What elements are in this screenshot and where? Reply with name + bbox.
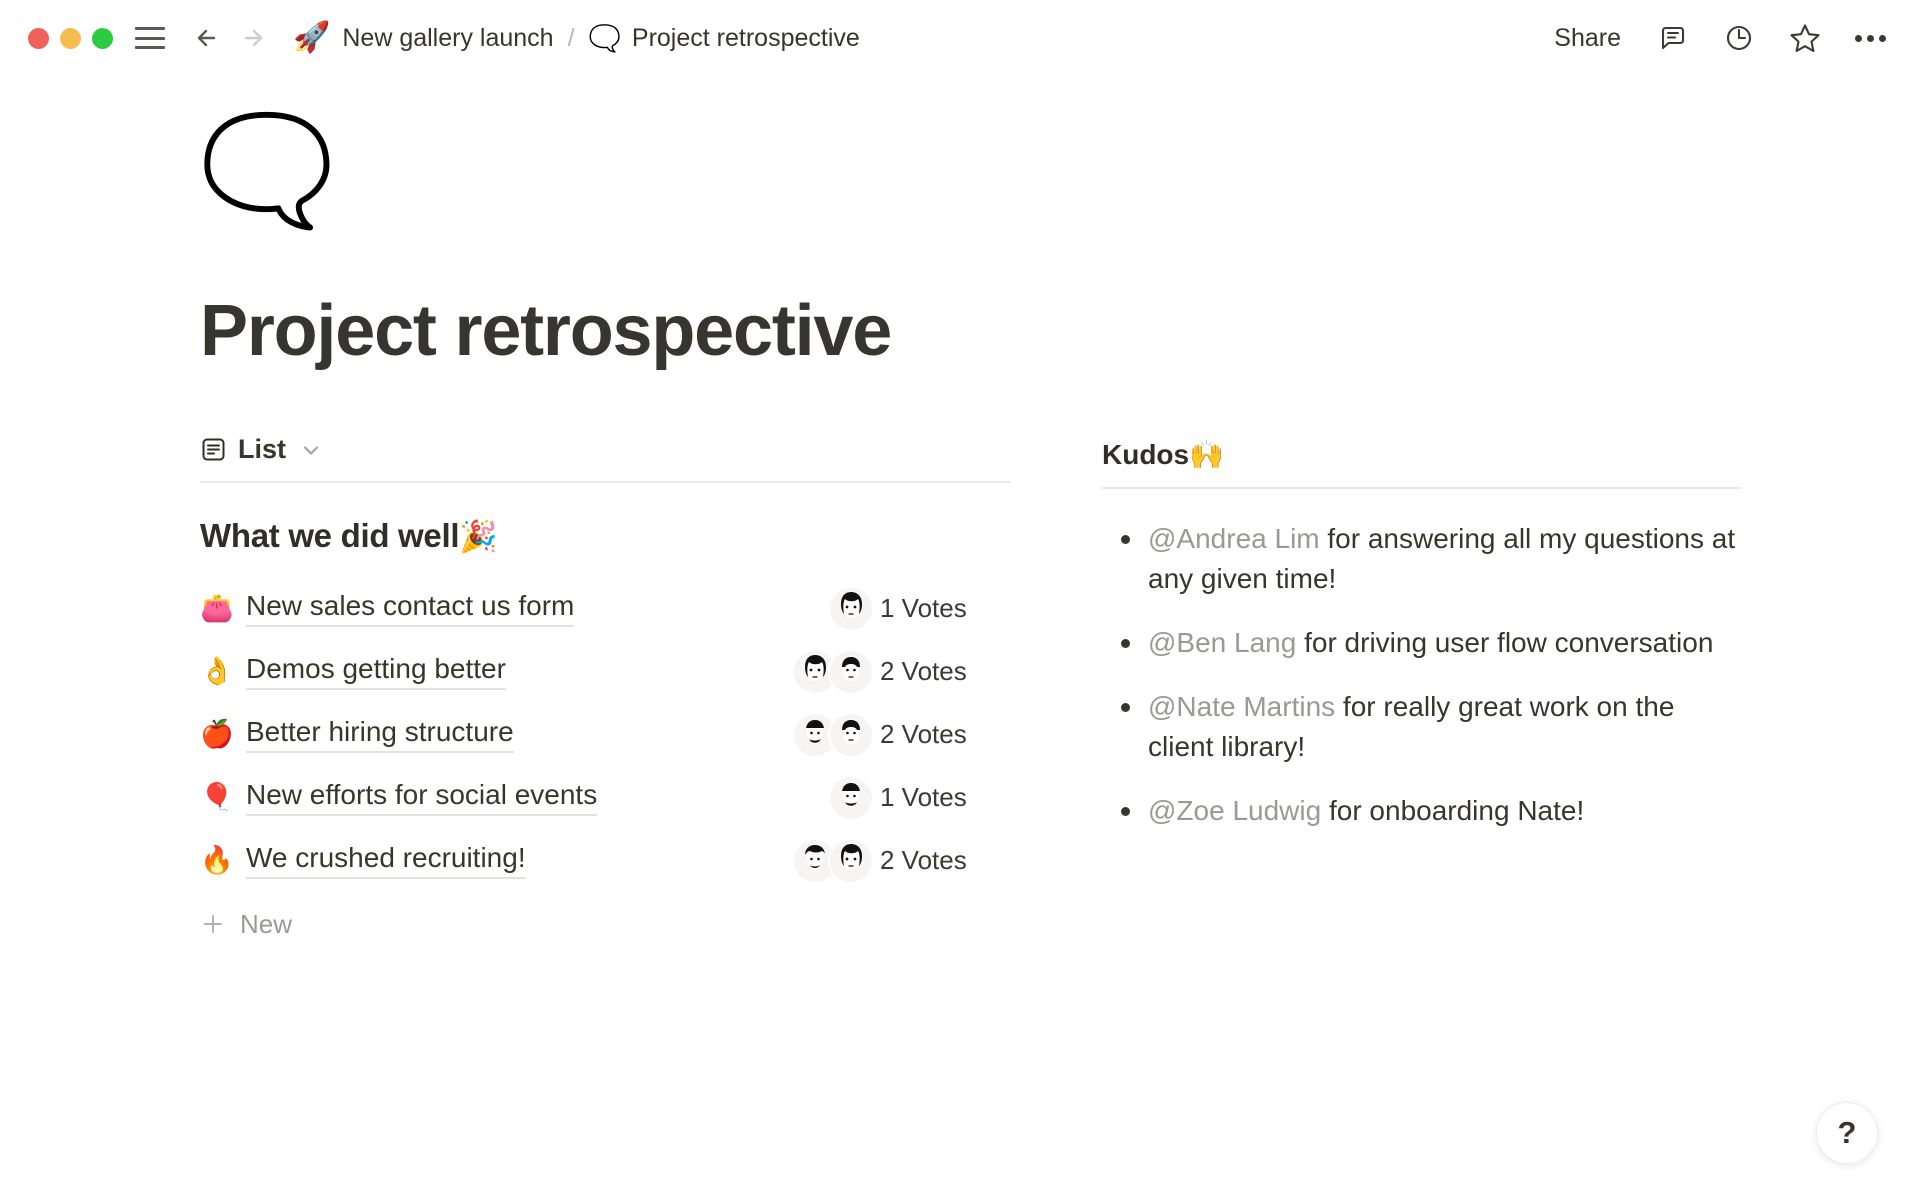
vote-count: 2 Votes: [880, 719, 967, 750]
list-item-title-wrap: New sales contact us form: [246, 577, 750, 640]
section-heading[interactable]: What we did well🎉: [200, 517, 1010, 555]
kudos-heading: Kudos🙌: [1102, 438, 1742, 487]
list-item[interactable]: @Andrea Lim for answering all my questio…: [1102, 519, 1742, 599]
window-controls: [28, 28, 113, 49]
avatar: [830, 588, 872, 630]
voter-avatars[interactable]: [750, 651, 880, 693]
bullet-icon: [1102, 791, 1148, 816]
mention-chip[interactable]: @Zoe Ludwig: [1148, 795, 1321, 826]
avatar: [830, 651, 872, 693]
add-new-item-label: New: [240, 909, 292, 940]
list-item-votes-group: 1 Votes: [750, 777, 1010, 819]
add-new-item-button[interactable]: New: [200, 896, 1010, 952]
list-item[interactable]: 🍎 Better hiring structure: [200, 703, 1010, 766]
list-item-title-wrap: We crushed recruiting!: [246, 829, 750, 892]
voter-avatars[interactable]: [750, 714, 880, 756]
mention-chip[interactable]: @Nate Martins: [1148, 691, 1335, 722]
avatar: [830, 840, 872, 882]
list-item-title[interactable]: New sales contact us form: [246, 590, 574, 627]
list-item[interactable]: 🎈 New efforts for social events 1 Votes: [200, 766, 1010, 829]
mention-chip[interactable]: @Andrea Lim: [1148, 523, 1320, 554]
list-item-votes-group: 1 Votes: [750, 588, 1010, 630]
bullet-icon: [1102, 623, 1148, 648]
share-button[interactable]: Share: [1548, 20, 1627, 57]
list-item-title[interactable]: We crushed recruiting!: [246, 842, 526, 879]
help-button[interactable]: ?: [1816, 1102, 1878, 1164]
list-item[interactable]: 👌 Demos getting better: [200, 640, 1010, 703]
list-item[interactable]: @Ben Lang for driving user flow conversa…: [1102, 623, 1742, 663]
plus-icon: [200, 911, 226, 937]
kudos-text: @Ben Lang for driving user flow conversa…: [1148, 623, 1742, 663]
arrow-left-icon[interactable]: [191, 21, 225, 55]
kudos-body: for onboarding Nate!: [1321, 795, 1584, 826]
mention-chip[interactable]: @Ben Lang: [1148, 627, 1296, 658]
comment-icon[interactable]: [1653, 18, 1693, 58]
list-item-title[interactable]: Demos getting better: [246, 653, 506, 690]
list-item-votes-group: 2 Votes: [750, 840, 1010, 882]
breadcrumb-separator: /: [568, 24, 575, 53]
kudos-body: for driving user flow conversation: [1296, 627, 1713, 658]
list-item-title-wrap: Better hiring structure: [246, 703, 750, 766]
ok-hand-icon: 👌: [200, 658, 246, 685]
vote-count: 2 Votes: [880, 845, 967, 876]
list-item-votes-group: 2 Votes: [750, 651, 1010, 693]
page-icon[interactable]: 🗨️: [200, 116, 1860, 224]
apple-icon: 🍎: [200, 721, 246, 748]
kudos-text: @Nate Martins for really great work on t…: [1148, 687, 1742, 767]
vote-count: 2 Votes: [880, 656, 967, 687]
chevron-down-icon[interactable]: [299, 438, 323, 462]
right-column: Kudos🙌 @Andrea Lim for answering all my …: [1102, 434, 1742, 855]
page-title[interactable]: Project retrospective: [200, 290, 1860, 372]
kudos-text: @Andrea Lim for answering all my questio…: [1148, 519, 1742, 599]
more-options-icon[interactable]: [1851, 27, 1890, 50]
section-heading-text: What we did well: [200, 517, 459, 554]
page-content: 🗨️ Project retrospective List: [0, 116, 1920, 952]
avatar: [830, 777, 872, 819]
clock-history-icon[interactable]: [1719, 18, 1759, 58]
view-selector[interactable]: List: [200, 434, 1010, 481]
content-columns: List What we did well🎉 👛 New sales conta…: [200, 434, 1860, 952]
purse-icon: 👛: [200, 595, 246, 622]
voter-avatars[interactable]: [750, 588, 880, 630]
arrow-right-icon[interactable]: [235, 21, 269, 55]
list-item[interactable]: @Zoe Ludwig for onboarding Nate!: [1102, 791, 1742, 831]
list-item[interactable]: @Nate Martins for really great work on t…: [1102, 687, 1742, 767]
list-item[interactable]: 🔥 We crushed recruiting!: [200, 829, 1010, 892]
breadcrumb-item-parent[interactable]: New gallery launch: [342, 24, 553, 53]
raising-hands-icon: 🙌: [1189, 439, 1224, 470]
minimize-window-button[interactable]: [60, 28, 81, 49]
list-item-title-wrap: Demos getting better: [246, 640, 750, 703]
list-item-title[interactable]: Better hiring structure: [246, 716, 514, 753]
list-item-title-wrap: New efforts for social events: [246, 766, 750, 829]
list-view-icon: [200, 436, 227, 463]
kudos-list: @Andrea Lim for answering all my questio…: [1102, 519, 1742, 831]
voter-avatars[interactable]: [750, 777, 880, 819]
vote-count: 1 Votes: [880, 782, 967, 813]
kudos-heading-text: Kudos: [1102, 439, 1189, 470]
window-titlebar: 🚀 New gallery launch / 🗨️ Project retros…: [0, 0, 1920, 76]
balloon-icon: 🎈: [200, 784, 246, 811]
hamburger-menu-icon[interactable]: [135, 27, 165, 49]
voter-avatars[interactable]: [750, 840, 880, 882]
party-popper-icon: 🎉: [459, 519, 497, 554]
view-selector-label: List: [238, 434, 286, 465]
maximize-window-button[interactable]: [92, 28, 113, 49]
speech-balloon-icon: 🗨️: [589, 25, 621, 51]
kudos-text: @Zoe Ludwig for onboarding Nate!: [1148, 791, 1742, 831]
avatar: [830, 714, 872, 756]
bullet-icon: [1102, 687, 1148, 712]
fire-icon: 🔥: [200, 847, 246, 874]
bullet-icon: [1102, 519, 1148, 544]
right-column-divider: [1102, 487, 1742, 489]
retro-list: 👛 New sales contact us form 1 Votes: [200, 577, 1010, 952]
star-icon[interactable]: [1785, 18, 1825, 58]
list-item-votes-group: 2 Votes: [750, 714, 1010, 756]
list-item[interactable]: 👛 New sales contact us form 1 Votes: [200, 577, 1010, 640]
rocket-icon: 🚀: [293, 23, 330, 53]
list-item-title[interactable]: New efforts for social events: [246, 779, 597, 816]
close-window-button[interactable]: [28, 28, 49, 49]
vote-count: 1 Votes: [880, 593, 967, 624]
breadcrumb-item-current[interactable]: Project retrospective: [632, 24, 860, 53]
titlebar-actions: Share: [1548, 0, 1890, 76]
left-column: List What we did well🎉 👛 New sales conta…: [200, 434, 1010, 952]
left-column-divider: [200, 481, 1010, 483]
